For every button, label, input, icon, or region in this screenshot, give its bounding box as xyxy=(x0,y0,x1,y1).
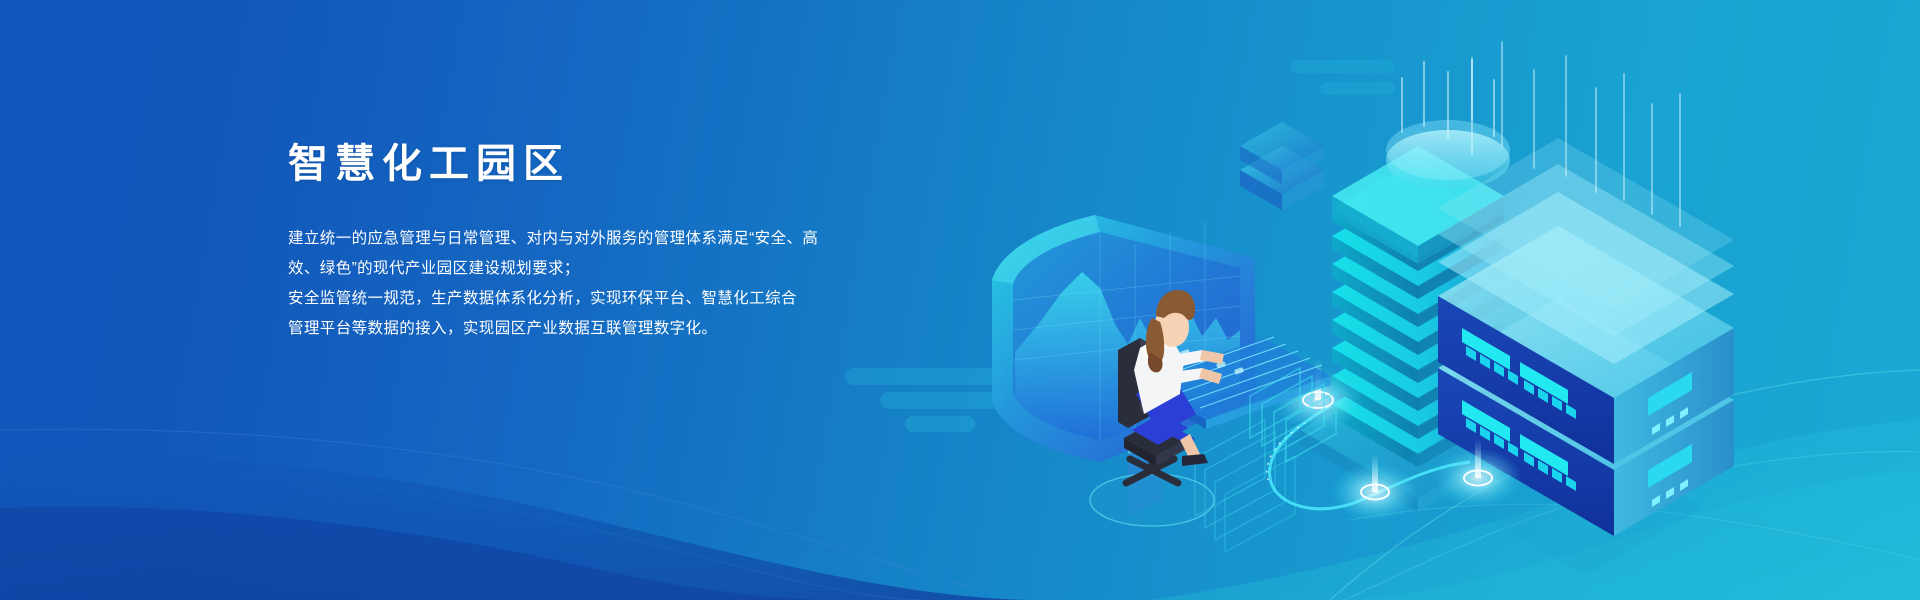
hero-banner: 智慧化工园区 建立统一的应急管理与日常管理、对内与对外服务的管理体系满足“安全、… xyxy=(0,0,1920,600)
description-line: 管理平台等数据的接入，实现园区产业数据互联管理数字化。 xyxy=(288,314,908,344)
circuit-paths xyxy=(1195,420,1295,552)
description-line: 建立统一的应急管理与日常管理、对内与对外服务的管理体系满足“安全、高 xyxy=(288,224,908,254)
page-title: 智慧化工园区 xyxy=(288,142,908,186)
hero-description: 建立统一的应急管理与日常管理、对内与对外服务的管理体系满足“安全、高 效、绿色”… xyxy=(288,224,908,344)
hero-text-block: 智慧化工园区 建立统一的应急管理与日常管理、对内与对外服务的管理体系满足“安全、… xyxy=(288,142,908,344)
description-line: 安全监管统一规范，生产数据体系化分析，实现环保平台、智慧化工综合 xyxy=(288,284,908,314)
description-line: 效、绿色”的现代产业园区建设规划要求； xyxy=(288,254,908,284)
floating-layers-icon xyxy=(1240,122,1324,210)
